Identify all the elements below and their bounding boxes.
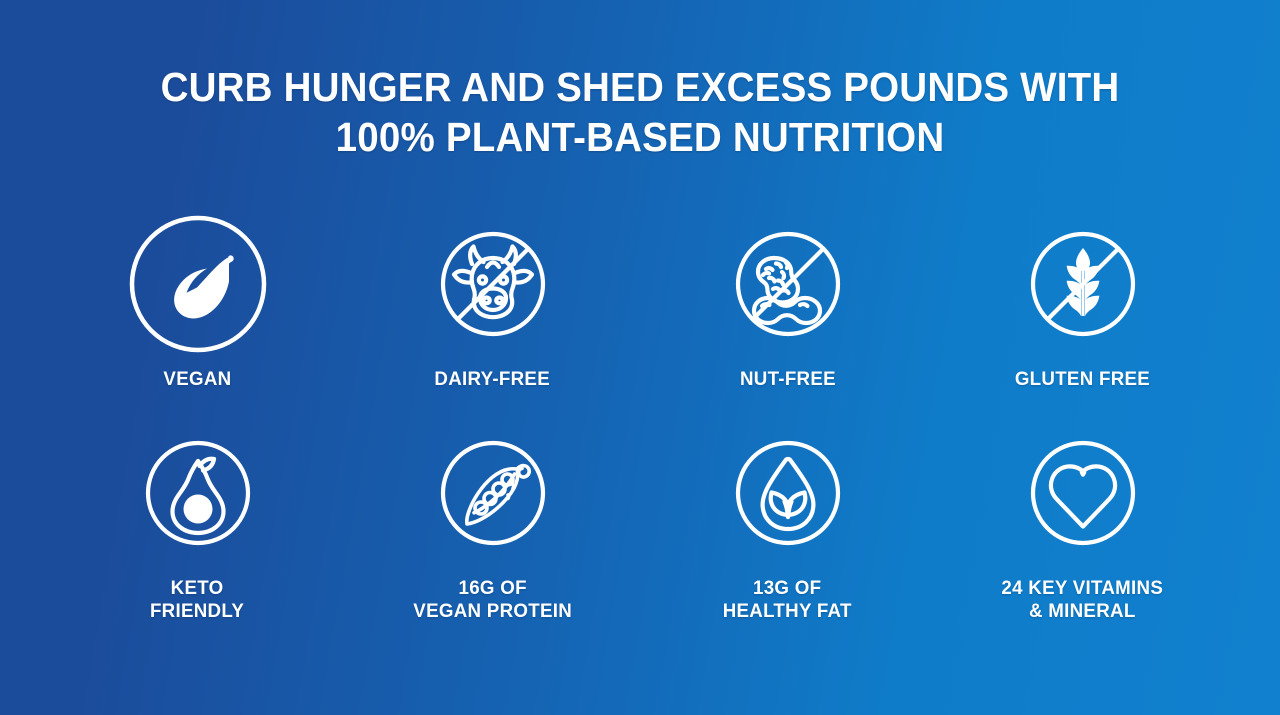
headline-line-2: 100% PLANT-BASED NUTRITION [161,112,1120,162]
badge-label: GLUTEN FREE [1015,368,1150,391]
badge-vegan: VEGAN [50,214,345,391]
no-wheat-icon [1013,214,1153,354]
badge-label: NUT-FREE [740,368,836,391]
page-title: CURB HUNGER AND SHED EXCESS POUNDS WITH … [161,62,1120,162]
badge-label: 24 KEY VITAMINS & MINERAL [1002,577,1164,623]
badge-dairy-free: DAIRY-FREE [345,214,640,391]
badge-nut-free: NUT-FREE [640,214,935,391]
badge-vitamins-minerals: 24 KEY VITAMINS & MINERAL [935,423,1230,623]
badge-label: 13G OF HEALTHY FAT [723,577,852,623]
badge-gluten-free: GLUTEN FREE [935,214,1230,391]
badge-label: DAIRY-FREE [435,368,551,391]
badge-label: 16G OF VEGAN PROTEIN [413,577,572,623]
pea-pod-icon [423,423,563,563]
benefit-badge-grid: VEGAN [50,214,1230,623]
leaf-icon [128,214,268,354]
headline-line-1: CURB HUNGER AND SHED EXCESS POUNDS WITH [161,62,1120,112]
badge-healthy-fat: 13G OF HEALTHY FAT [640,423,935,623]
no-peanut-icon [718,214,858,354]
badge-keto-friendly: KETO FRIENDLY [50,423,345,623]
badge-vegan-protein: 16G OF VEGAN PROTEIN [345,423,640,623]
badge-label: VEGAN [163,368,231,391]
heart-icon [1013,423,1153,563]
promo-banner: CURB HUNGER AND SHED EXCESS POUNDS WITH … [0,0,1280,715]
badge-label: KETO FRIENDLY [150,577,244,623]
droplet-leaf-icon [718,423,858,563]
avocado-icon [128,423,268,563]
no-dairy-cow-icon [423,214,563,354]
